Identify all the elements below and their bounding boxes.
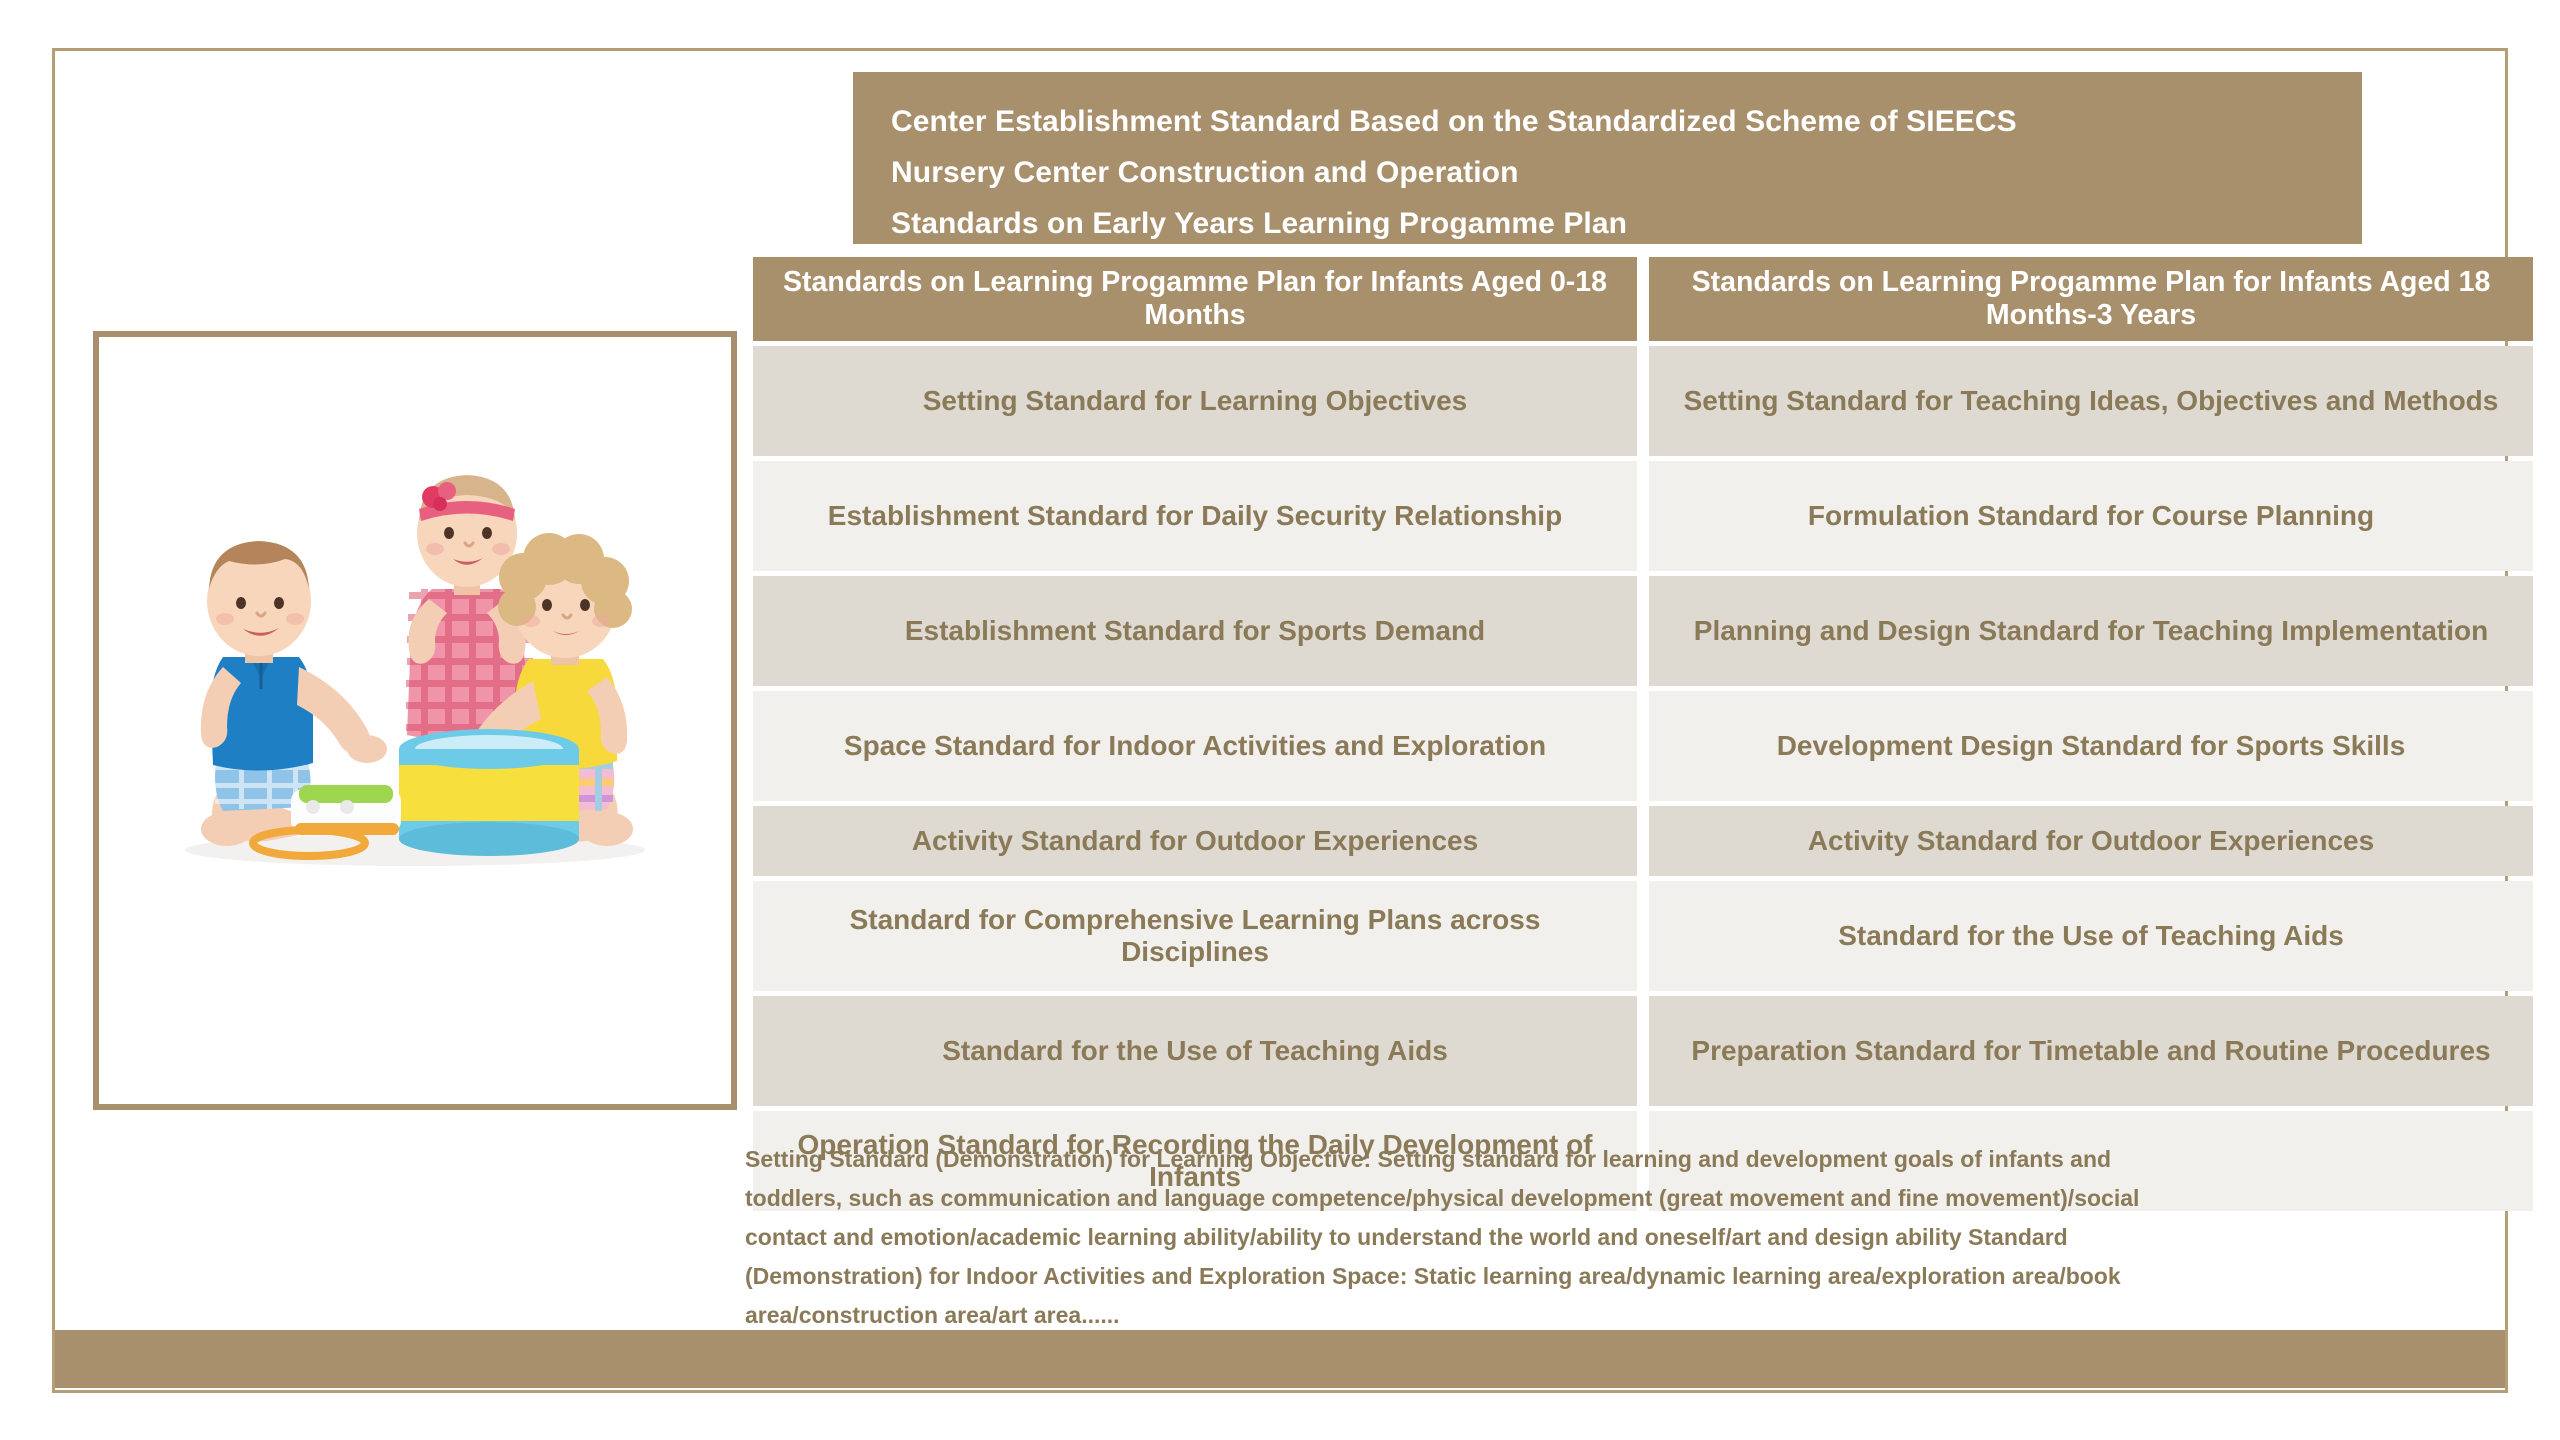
table-row: Standard for the Use of Teaching Aids Pr… [753, 996, 2533, 1106]
cell-right-6: Standard for the Use of Teaching Aids [1649, 881, 2533, 991]
cell-left-6: Standard for Comprehensive Learning Plan… [753, 881, 1637, 991]
cell-right-4: Development Design Standard for Sports S… [1649, 691, 2533, 801]
cell-left-3: Establishment Standard for Sports Demand [753, 576, 1637, 686]
table-row: Setting Standard for Learning Objectives… [753, 346, 2533, 456]
table-row: Standard for Comprehensive Learning Plan… [753, 881, 2533, 991]
cell-left-2: Establishment Standard for Daily Securit… [753, 461, 1637, 571]
table-row: Space Standard for Indoor Activities and… [753, 691, 2533, 801]
cell-right-5: Activity Standard for Outdoor Experience… [1649, 806, 2533, 876]
header-line-1: Center Establishment Standard Based on t… [891, 96, 2362, 147]
slide-canvas: Center Establishment Standard Based on t… [0, 0, 2560, 1440]
footer-bar [55, 1330, 2505, 1388]
table-header-row: Standards on Learning Progamme Plan for … [753, 257, 2533, 341]
table-row: Establishment Standard for Sports Demand… [753, 576, 2533, 686]
toddlers-illustration-svg [99, 337, 731, 1104]
table-row: Activity Standard for Outdoor Experience… [753, 806, 2533, 876]
cell-right-1: Setting Standard for Teaching Ideas, Obj… [1649, 346, 2533, 456]
table-row: Establishment Standard for Daily Securit… [753, 461, 2533, 571]
toddlers-photo [99, 337, 731, 1104]
drum-toy [399, 729, 579, 856]
cell-right-2: Formulation Standard for Course Planning [1649, 461, 2533, 571]
photo-frame [93, 331, 737, 1110]
cell-right-7: Preparation Standard for Timetable and R… [1649, 996, 2533, 1106]
cell-left-4: Space Standard for Indoor Activities and… [753, 691, 1637, 801]
header-banner: Center Establishment Standard Based on t… [853, 72, 2362, 244]
header-line-3: Standards on Early Years Learning Progam… [891, 198, 2362, 249]
header-line-2: Nursery Center Construction and Operatio… [891, 147, 2362, 198]
cell-left-1: Setting Standard for Learning Objectives [753, 346, 1637, 456]
standards-table: Standards on Learning Progamme Plan for … [753, 257, 2533, 1216]
cell-right-3: Planning and Design Standard for Teachin… [1649, 576, 2533, 686]
cell-left-7: Standard for the Use of Teaching Aids [753, 996, 1637, 1106]
column-header-18-months-3-years: Standards on Learning Progamme Plan for … [1649, 257, 2533, 341]
column-header-0-18-months: Standards on Learning Progamme Plan for … [753, 257, 1637, 341]
cell-left-5: Activity Standard for Outdoor Experience… [753, 806, 1637, 876]
description-paragraph: Setting Standard (Demonstration) for Lea… [745, 1140, 2205, 1335]
